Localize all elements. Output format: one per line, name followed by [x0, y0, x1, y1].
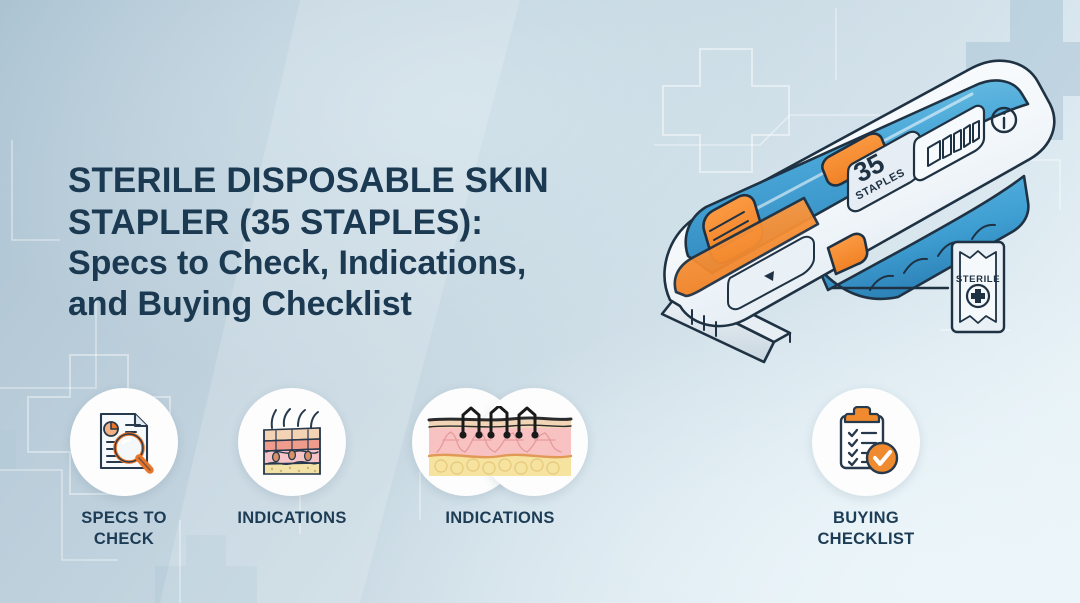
skin-cross-section-icon	[254, 406, 330, 478]
feature-label: SPECS TO CHECK	[60, 508, 188, 550]
feature-icon-circle	[238, 388, 346, 496]
feature-item-indications-wound[interactable]: INDICATIONS	[412, 388, 588, 529]
clipboard-check-icon	[830, 406, 902, 478]
feature-item-indications-skin[interactable]: INDICATIONS	[228, 388, 356, 529]
feature-label: INDICATIONS	[412, 508, 588, 529]
stapler-illustration: 35 STAPLES	[652, 42, 1080, 372]
document-magnifier-icon	[87, 405, 161, 479]
check-badge	[867, 443, 897, 473]
sterile-pouch-label: STERILE	[956, 274, 1000, 285]
title-line-3: Specs to Check, Indications,	[68, 243, 658, 283]
feature-icon-circle	[70, 388, 178, 496]
title-line-1: STERILE DISPOSABLE SKIN	[68, 160, 658, 202]
feature-label: BUYING CHECKLIST	[786, 508, 946, 550]
stapled-skin-wound-icon	[425, 406, 575, 480]
feature-icon-double-circle	[412, 388, 588, 496]
title-line-4: and Buying Checklist	[68, 284, 658, 324]
feature-row: SPECS TO CHECK	[0, 388, 1080, 568]
page-title: STERILE DISPOSABLE SKIN STAPLER (35 STAP…	[68, 160, 658, 324]
feature-item-buying-checklist[interactable]: BUYING CHECKLIST	[786, 388, 946, 550]
feature-label: INDICATIONS	[228, 508, 356, 529]
sterile-pouch	[952, 242, 1004, 332]
feature-icon-circle	[812, 388, 920, 496]
title-line-2: STAPLER (35 STAPLES):	[68, 202, 658, 244]
feature-item-specs-to-check[interactable]: SPECS TO CHECK	[60, 388, 188, 550]
hero-banner: STERILE DISPOSABLE SKIN STAPLER (35 STAP…	[0, 0, 1080, 603]
